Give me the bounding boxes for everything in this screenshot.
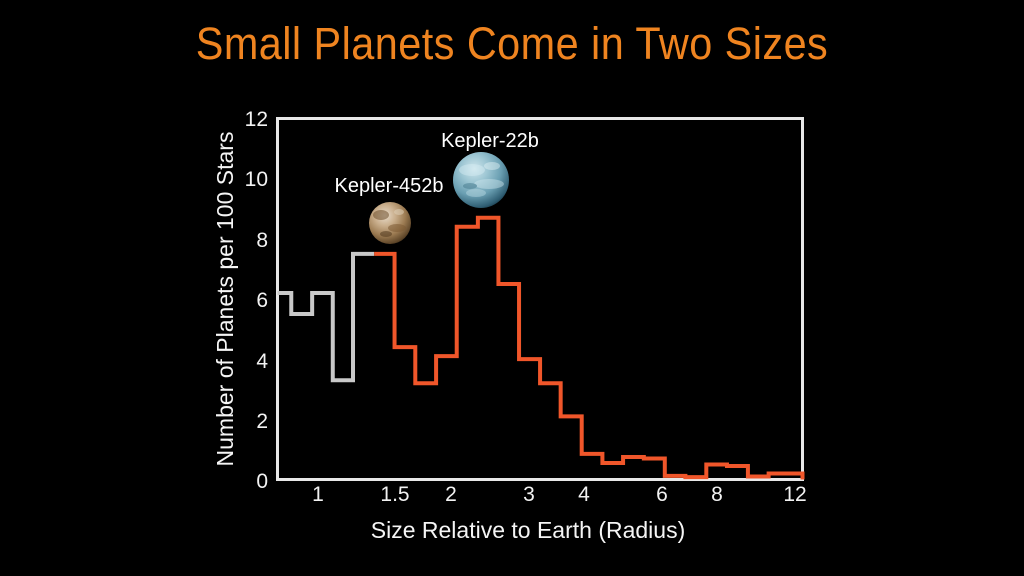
y-tick-0: 0 [256,470,268,493]
planet-kepler-452b: Kepler-452b [335,175,444,244]
axes-border [278,119,803,480]
kepler-452b-disc [369,202,411,244]
y-tick-12: 12 [245,108,268,131]
x-tick-2: 2 [445,483,457,506]
y-axis-title: Number of Planets per 100 Stars [212,132,238,467]
x-tick-1: 1 [312,483,324,506]
plot-frame [278,119,803,480]
x-axis-ticks: 1 1.5 2 3 4 6 8 12 [312,483,807,506]
x-axis-title: Size Relative to Earth (Radius) [371,517,685,543]
planet-kepler-22b: Kepler-22b [441,130,539,208]
histogram-traces [278,218,803,480]
series-planet-occurrence-rate [374,218,802,480]
series-incomplete-survey-region [278,254,375,380]
x-tick-8: 8 [711,483,723,506]
y-tick-2: 2 [256,410,268,433]
y-tick-10: 10 [245,168,268,191]
y-tick-8: 8 [256,229,268,252]
y-tick-4: 4 [256,350,268,373]
x-tick-3: 3 [523,483,535,506]
x-tick-12: 12 [783,483,806,506]
x-tick-4: 4 [578,483,590,506]
kepler-22b-label: Kepler-22b [441,130,539,152]
y-axis-ticks: 12 10 8 6 4 2 0 [245,108,269,493]
x-tick-6: 6 [656,483,668,506]
plot-figure: 12 10 8 6 4 2 0 Number of Planets per 10… [0,0,1024,576]
chart-canvas: Small Planets Come in Two Sizes [0,0,1024,576]
x-tick-1_5: 1.5 [380,483,409,506]
y-tick-6: 6 [256,289,268,312]
kepler-452b-label: Kepler-452b [335,175,444,197]
